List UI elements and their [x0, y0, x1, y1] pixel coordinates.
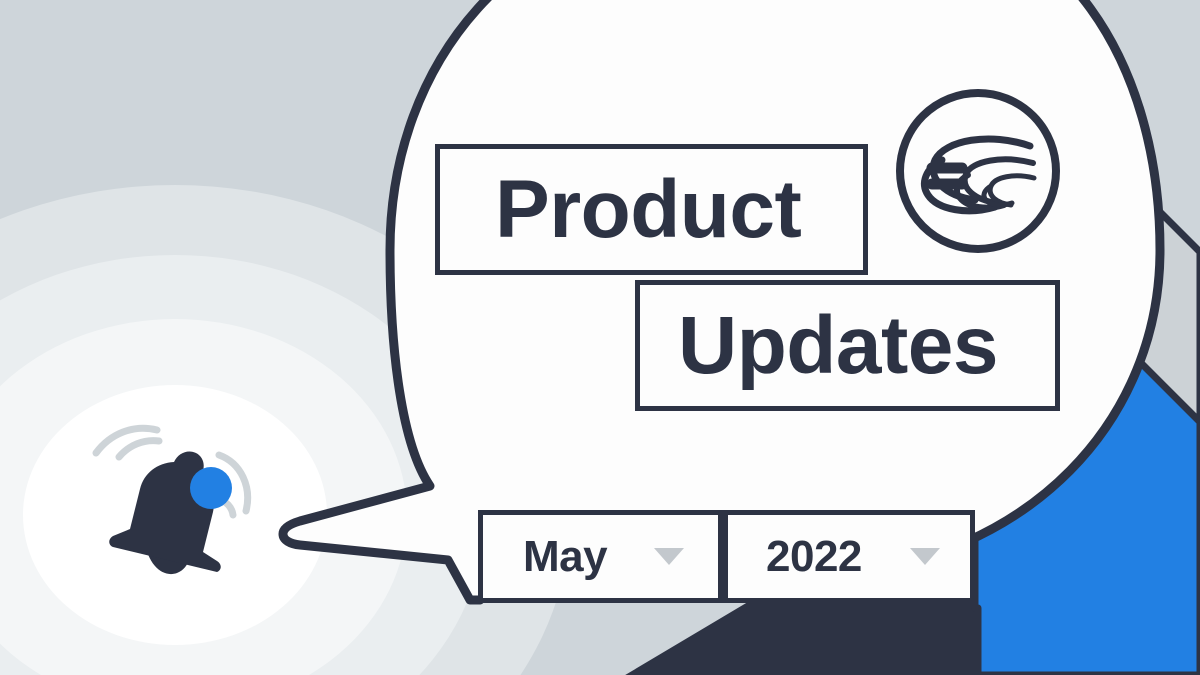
logo-circle	[900, 93, 1056, 249]
cloudera-logo[interactable]	[0, 0, 1200, 675]
banner-canvas: Product Updates May 2022	[0, 0, 1200, 675]
